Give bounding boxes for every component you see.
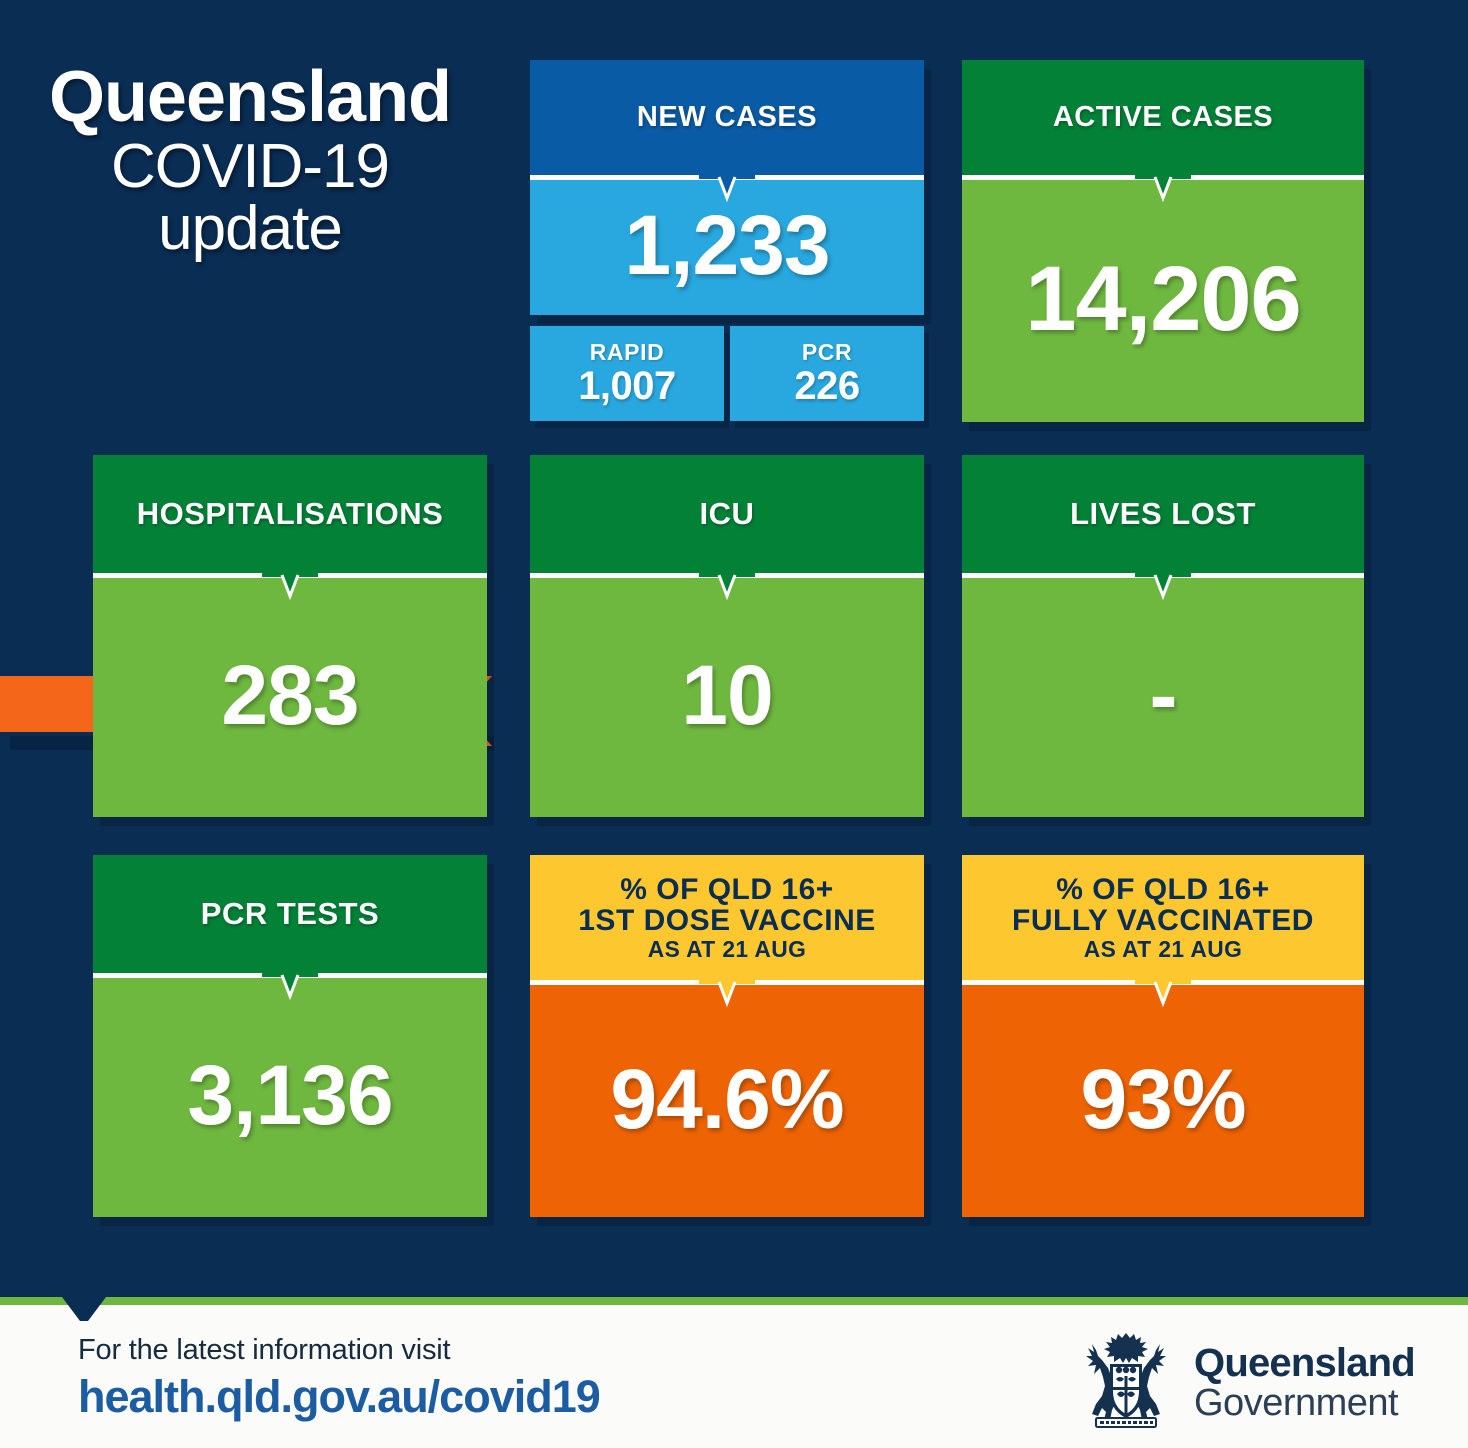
card-icu-label: ICU (700, 498, 755, 531)
queensland-government-logo: Queensland Government (1072, 1328, 1412, 1436)
card-pcr-tests-header: PCR TESTS (93, 855, 487, 973)
chevron-down-icon (1135, 980, 1191, 1012)
card-hospitalisations-header: HOSPITALISATIONS (93, 455, 487, 573)
card-first-dose-value: 94.6% (610, 1057, 843, 1141)
qld-logo-wordmark: Queensland Government (1194, 1343, 1415, 1422)
card-active-cases-label: ACTIVE CASES (1053, 102, 1273, 133)
chevron-down-icon (1135, 175, 1191, 207)
card-icu-header: ICU (530, 455, 924, 573)
card-active-cases-value: 14,206 (1025, 253, 1300, 345)
card-fully-vaccinated-label-sub: AS AT 21 AUG (1012, 937, 1314, 961)
page-title: Queensland COVID-19 update (0, 62, 500, 260)
qld-logo-line-government: Government (1194, 1384, 1415, 1422)
footer-divider-rule (0, 1297, 1468, 1305)
qld-logo-line-queensland: Queensland (1194, 1343, 1415, 1383)
card-fully-vaccinated-label-line1: % OF QLD 16+ (1056, 873, 1270, 906)
chevron-down-icon (699, 980, 755, 1012)
card-hospitalisations-body: 283 (93, 573, 487, 817)
card-pcr-tests-body: 3,136 (93, 973, 487, 1217)
card-lives-lost-label: LIVES LOST (1070, 498, 1256, 531)
card-lives-lost-value: - (1150, 653, 1177, 737)
footer-info-text: For the latest information visit health.… (78, 1334, 600, 1423)
card-pcr-tests: PCR TESTS 3,136 (93, 855, 487, 1217)
card-hospitalisations-label: HOSPITALISATIONS (137, 498, 444, 531)
chevron-down-icon (1135, 573, 1191, 605)
breakdown-cell-rapid: RAPID 1,007 (530, 326, 724, 421)
card-pcr-tests-label: PCR TESTS (201, 898, 379, 931)
card-fully-vaccinated-value: 93% (1080, 1057, 1245, 1141)
chevron-down-icon (699, 175, 755, 207)
card-lives-lost: LIVES LOST - (962, 455, 1364, 817)
card-hospitalisations-value: 283 (221, 653, 358, 737)
chevron-down-marker-icon (62, 1297, 106, 1323)
card-fully-vaccinated-label-line2: FULLY VACCINATED (1012, 904, 1314, 937)
card-first-dose-vaccine: % OF QLD 16+ 1ST DOSE VACCINE AS AT 21 A… (530, 855, 924, 1217)
card-new-cases-value: 1,233 (624, 203, 829, 287)
card-icu-value: 10 (681, 653, 772, 737)
card-active-cases-header: ACTIVE CASES (962, 60, 1364, 175)
card-new-cases-header: NEW CASES (530, 60, 924, 175)
infographic-canvas: Queensland COVID-19 update 29 August NEW… (0, 0, 1468, 1448)
card-new-cases-label: NEW CASES (637, 102, 817, 133)
card-new-cases: NEW CASES 1,233 (530, 60, 924, 315)
card-hospitalisations: HOSPITALISATIONS 283 (93, 455, 487, 817)
card-pcr-tests-value: 3,136 (187, 1053, 392, 1137)
breakdown-rapid-value: 1,007 (578, 364, 676, 409)
card-first-dose-label-line1: % OF QLD 16+ (620, 873, 834, 906)
card-active-cases-body: 14,206 (962, 175, 1364, 422)
date-ribbon: 29 August (0, 336, 500, 426)
card-fully-vaccinated-label: % OF QLD 16+ FULLY VACCINATED AS AT 21 A… (1012, 874, 1314, 962)
coat-of-arms-icon (1072, 1330, 1180, 1434)
card-first-dose-body: 94.6% (530, 980, 924, 1217)
card-icu-body: 10 (530, 573, 924, 817)
title-line-update: update (0, 199, 500, 260)
chevron-down-icon (699, 573, 755, 605)
card-first-dose-label-sub: AS AT 21 AUG (578, 937, 876, 961)
breakdown-cell-pcr: PCR 226 (730, 326, 924, 421)
card-lives-lost-header: LIVES LOST (962, 455, 1364, 573)
footer-tagline: For the latest information visit (78, 1334, 600, 1367)
card-first-dose-label: % OF QLD 16+ 1ST DOSE VACCINE AS AT 21 A… (578, 874, 876, 962)
card-lives-lost-body: - (962, 573, 1364, 817)
breakdown-rapid-label: RAPID (590, 339, 665, 366)
breakdown-pcr-value: 226 (794, 364, 859, 409)
title-line-covid19: COVID-19 (0, 137, 500, 198)
title-line-queensland: Queensland (0, 62, 500, 133)
card-first-dose-label-line2: 1ST DOSE VACCINE (578, 904, 876, 937)
card-fully-vaccinated: % OF QLD 16+ FULLY VACCINATED AS AT 21 A… (962, 855, 1364, 1217)
card-new-cases-body: 1,233 (530, 175, 924, 315)
footer-url-link[interactable]: health.qld.gov.au/covid19 (78, 1371, 600, 1423)
breakdown-pcr-label: PCR (802, 339, 852, 366)
chevron-down-icon (262, 573, 318, 605)
new-cases-breakdown: RAPID 1,007 PCR 226 (530, 326, 924, 421)
card-fully-vaccinated-header: % OF QLD 16+ FULLY VACCINATED AS AT 21 A… (962, 855, 1364, 980)
card-first-dose-header: % OF QLD 16+ 1ST DOSE VACCINE AS AT 21 A… (530, 855, 924, 980)
card-icu: ICU 10 (530, 455, 924, 817)
card-fully-vaccinated-body: 93% (962, 980, 1364, 1217)
chevron-down-icon (262, 973, 318, 1005)
card-active-cases: ACTIVE CASES 14,206 (962, 60, 1364, 422)
